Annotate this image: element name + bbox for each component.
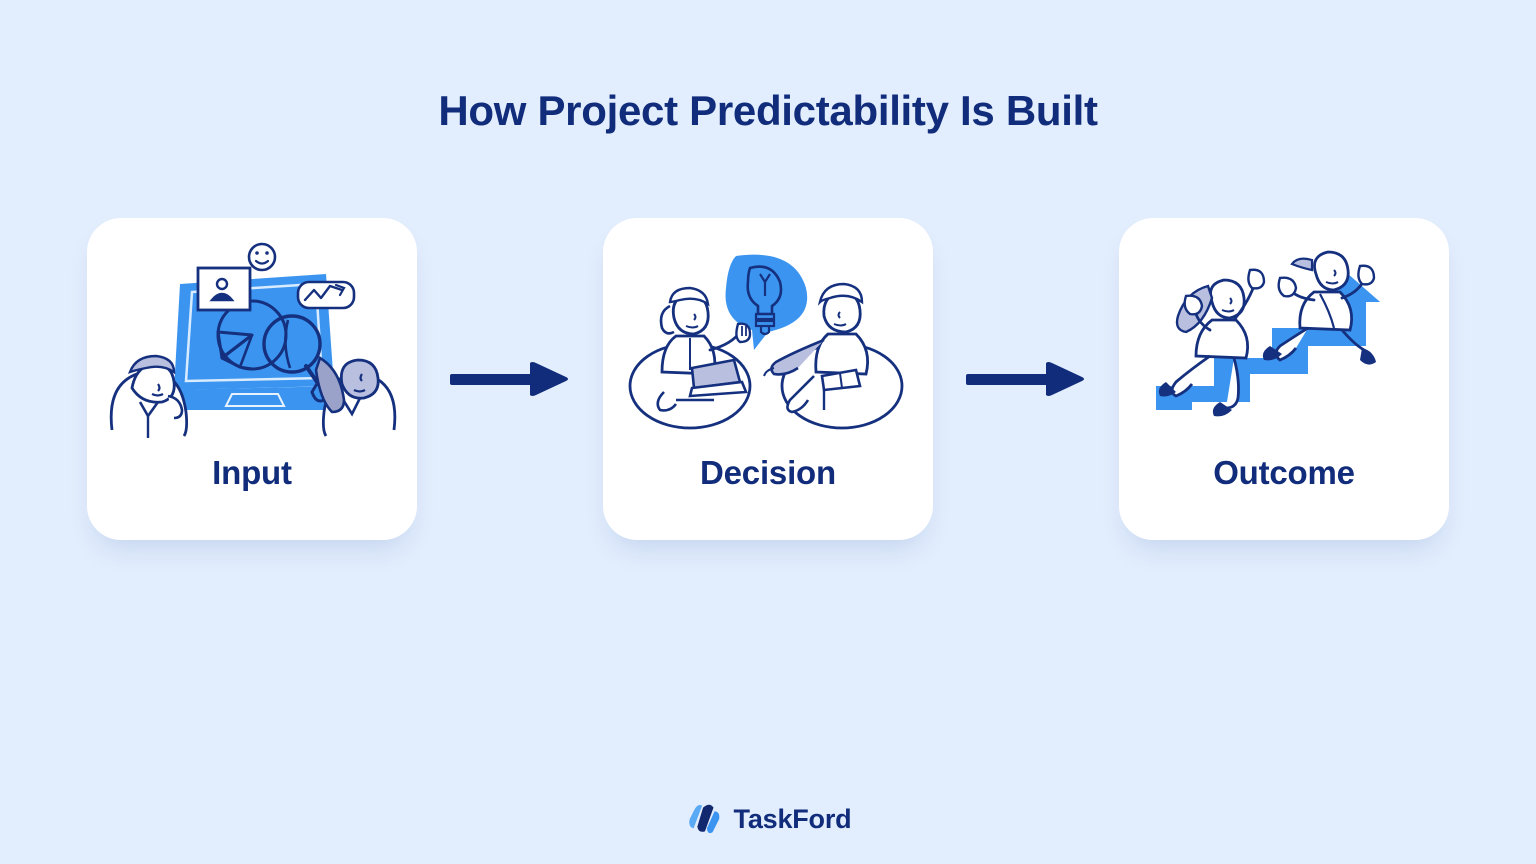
process-flow: Input (87, 218, 1449, 540)
flow-step-card-input[interactable]: Input (87, 218, 417, 540)
brand-name: TaskFord (734, 804, 852, 835)
arrow-right-icon (450, 357, 570, 401)
decision-illustration (618, 240, 918, 440)
outcome-illustration (1134, 240, 1434, 440)
flow-connector-2 (933, 357, 1119, 401)
page-title: How Project Predictability Is Built (438, 88, 1097, 134)
taskford-logo-icon (685, 800, 723, 838)
flow-step-card-decision[interactable]: Decision (603, 218, 933, 540)
flow-step-label-input: Input (212, 454, 292, 492)
arrow-right-icon (966, 357, 1086, 401)
flow-step-label-decision: Decision (700, 454, 836, 492)
input-illustration (102, 240, 402, 440)
brand-footer: TaskFord (0, 800, 1536, 838)
flow-step-label-outcome: Outcome (1213, 454, 1355, 492)
infographic-page: How Project Predictability Is Built (0, 0, 1536, 864)
flow-connector-1 (417, 357, 603, 401)
flow-step-card-outcome[interactable]: Outcome (1119, 218, 1449, 540)
